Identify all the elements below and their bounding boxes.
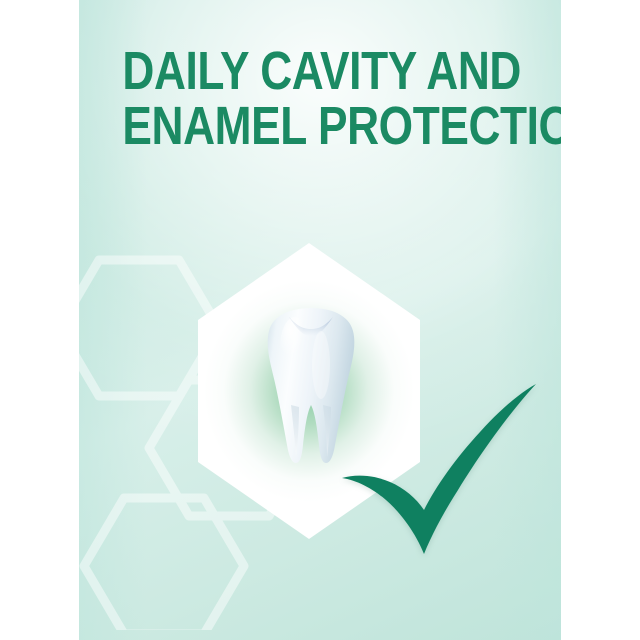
banner-image: DAILY CAVITY AND ENAMEL PROTECTION xyxy=(0,0,640,640)
tooth-highlight-secondary xyxy=(312,331,330,399)
headline-line-1: DAILY CAVITY AND xyxy=(122,44,517,99)
page-title: DAILY CAVITY AND ENAMEL PROTECTION xyxy=(122,44,517,154)
headline-line-2: ENAMEL PROTECTION xyxy=(122,99,517,154)
checkmark-icon xyxy=(340,378,540,570)
tooth-highlight xyxy=(280,317,310,377)
checkmark-stroke xyxy=(342,384,536,554)
